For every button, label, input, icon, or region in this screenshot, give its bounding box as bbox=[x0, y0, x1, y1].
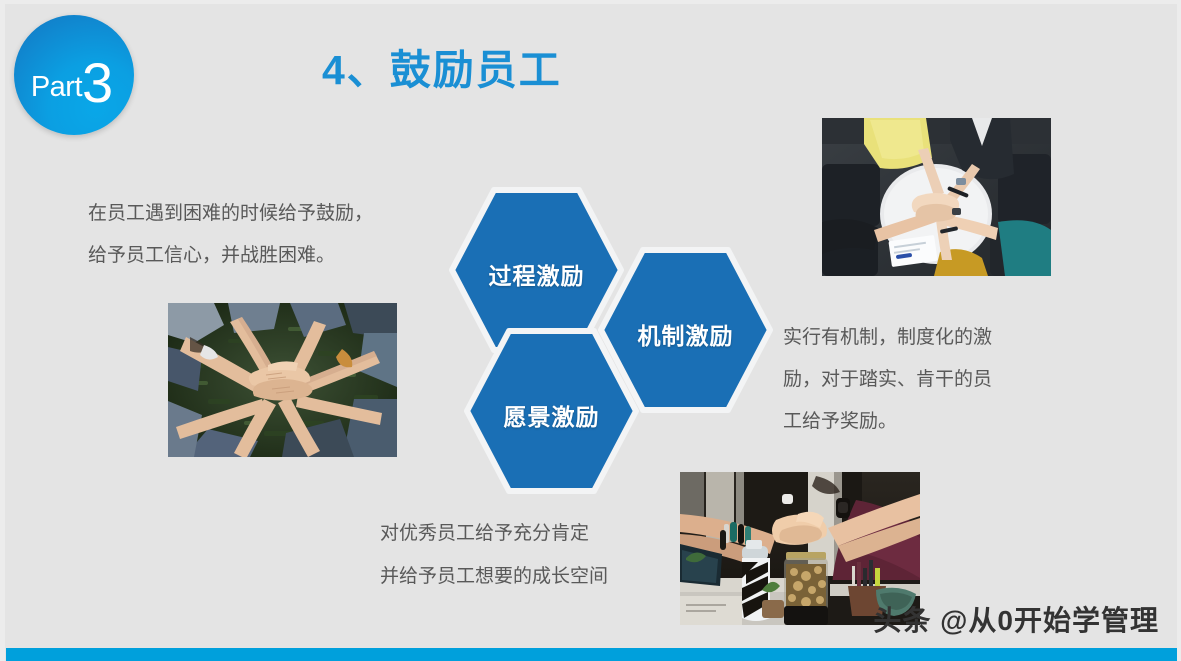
photo-boardroom-hands bbox=[822, 118, 1051, 276]
paragraph-bottom: 对优秀员工给予充分肯定 并给予员工想要的成长空间 bbox=[380, 512, 680, 598]
slide-title: 4、鼓励员工 bbox=[322, 36, 562, 96]
hexagon-vision[interactable]: 愿景激励 bbox=[464, 325, 639, 497]
hexagon-vision-art bbox=[464, 325, 639, 497]
photo-grass-hands bbox=[168, 303, 397, 457]
bottom-accent-bar bbox=[6, 648, 1181, 661]
paragraph-left: 在员工遇到困难的时候给予鼓励， 给予员工信心，并战胜困难。 bbox=[88, 193, 448, 277]
watermark: 头条 @从0开始学管理 bbox=[873, 599, 1159, 639]
watermark-source: 头条 bbox=[873, 605, 931, 636]
part-badge: Part 3 bbox=[14, 15, 134, 135]
paragraph-right: 实行有机制，制度化的激 励，对于踏实、肯干的员 工给予奖励。 bbox=[783, 317, 1068, 443]
part-badge-inner: Part 3 bbox=[31, 49, 113, 105]
hexagon-vision-shape bbox=[464, 325, 639, 497]
watermark-handle: @从0开始学管理 bbox=[940, 605, 1159, 636]
part-badge-word: Part bbox=[31, 73, 82, 102]
photo-boardroom-hands-art bbox=[822, 118, 1051, 276]
part-badge-number: 3 bbox=[82, 55, 113, 111]
presentation-slide: Part 3 4、鼓励员工 在员工遇到困难的时候给予鼓励， 给予员工信心，并战胜… bbox=[0, 0, 1181, 661]
photo-grass-hands-art bbox=[168, 303, 397, 457]
